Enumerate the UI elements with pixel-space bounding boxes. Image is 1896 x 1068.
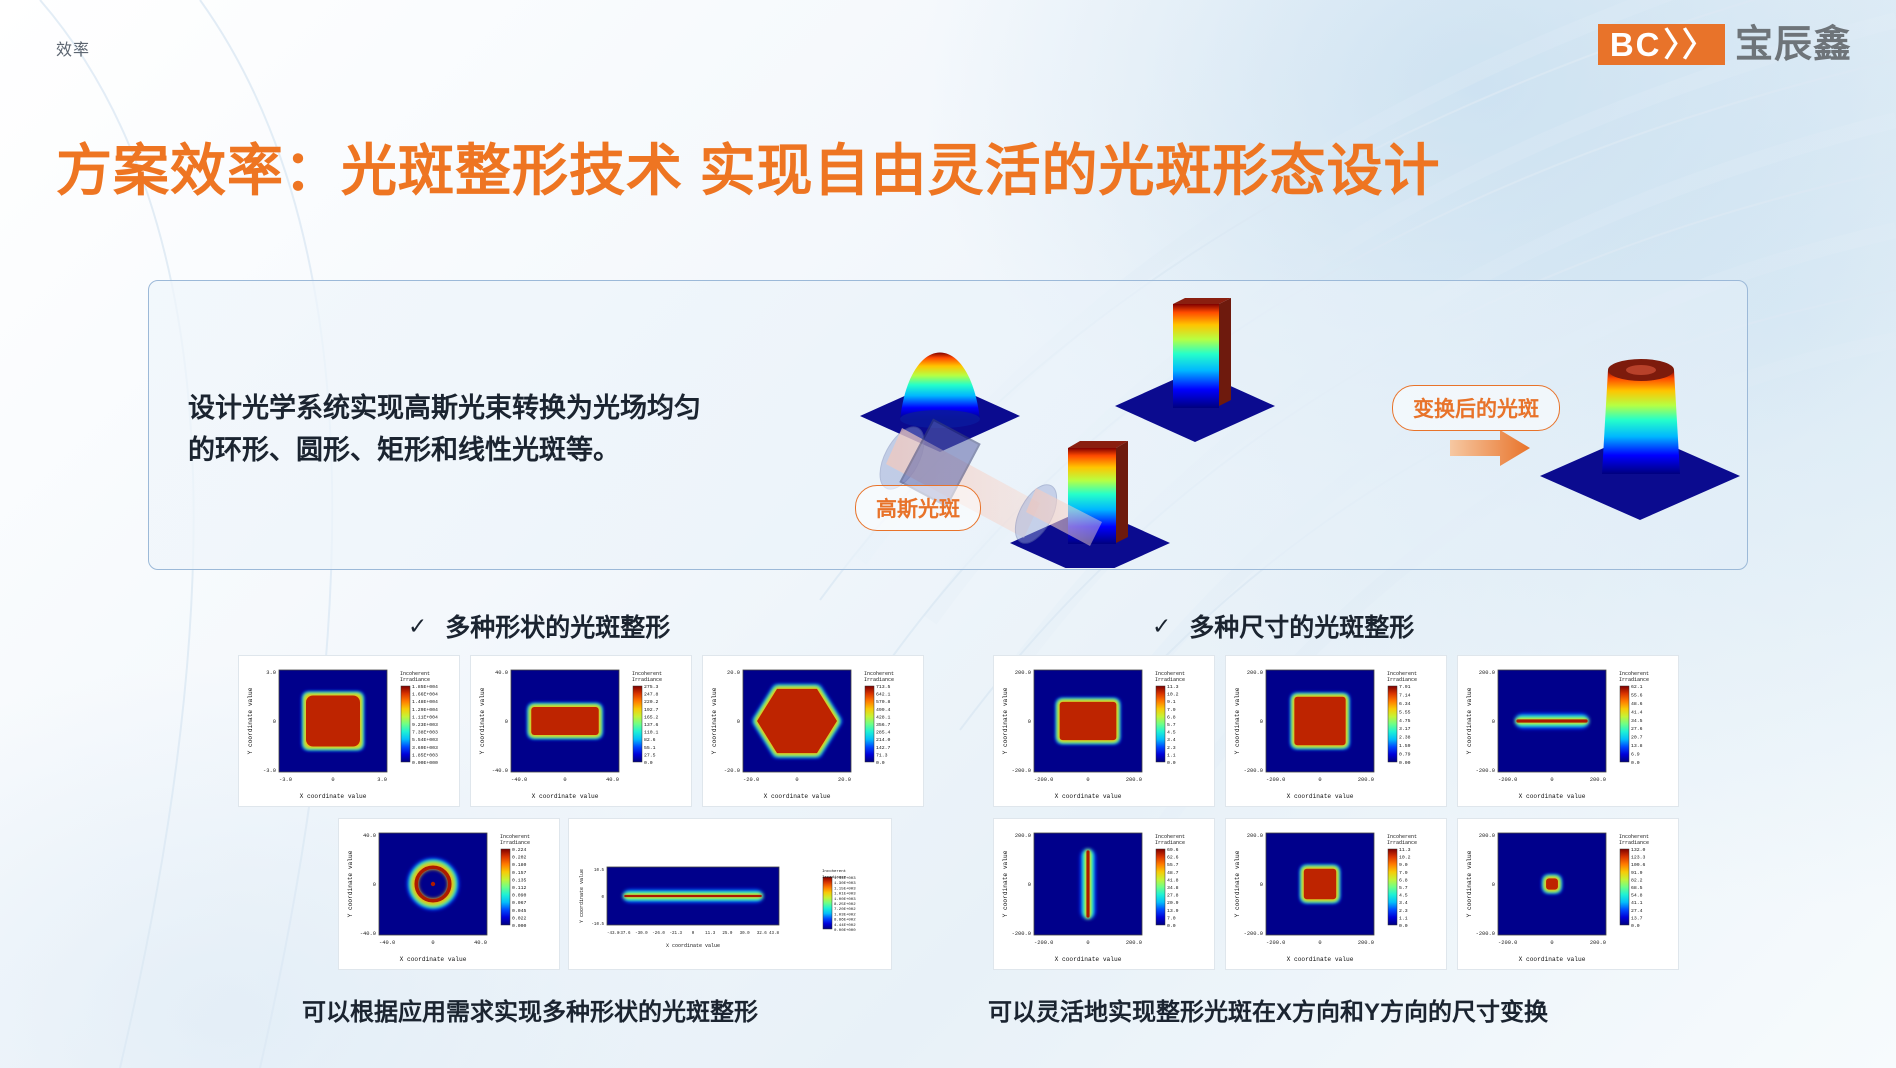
svg-text:Y coordinate value: Y coordinate value <box>1234 850 1241 917</box>
page-title: 方案效率：光斑整形技术 实现自由灵活的光斑形态设计 <box>56 126 1441 207</box>
svg-text:6.9: 6.9 <box>1631 752 1640 758</box>
svg-text:0: 0 <box>1028 719 1031 725</box>
svg-text:Incoherent: Incoherent <box>822 869 846 874</box>
svg-text:-200.0: -200.0 <box>1498 940 1517 946</box>
svg-text:3.4: 3.4 <box>1167 737 1176 743</box>
svg-text:3.69E+003: 3.69E+003 <box>412 745 438 751</box>
beam-shaping-illustration <box>840 288 1750 568</box>
pill-gaussian-spot: 高斯光斑 <box>855 485 981 531</box>
svg-text:0: 0 <box>1492 719 1495 725</box>
svg-text:0.0: 0.0 <box>876 760 885 766</box>
hero-line-2: 的环形、圆形、矩形和线性光斑等。 <box>188 430 828 472</box>
svg-text:4.75: 4.75 <box>1399 718 1411 724</box>
svg-text:123.3: 123.3 <box>1631 855 1646 861</box>
svg-text:0.224: 0.224 <box>512 847 527 853</box>
svg-text:27.8: 27.8 <box>1167 893 1179 899</box>
svg-text:5.7: 5.7 <box>1399 885 1408 891</box>
svg-text:68.5: 68.5 <box>1631 885 1643 891</box>
svg-text:0: 0 <box>273 719 276 725</box>
svg-text:3.0: 3.0 <box>377 777 387 783</box>
svg-text:-200.0: -200.0 <box>1476 931 1495 937</box>
svg-text:Y coordinate value: Y coordinate value <box>711 687 718 754</box>
svg-text:55.6: 55.6 <box>1631 692 1643 698</box>
svg-text:Irradiance: Irradiance <box>864 677 894 683</box>
flattop-surface-plot-top <box>1115 298 1275 442</box>
svg-text:48.6: 48.6 <box>1631 701 1643 707</box>
svg-text:1.85E+004: 1.85E+004 <box>412 684 438 690</box>
svg-text:-3.0: -3.0 <box>263 768 276 774</box>
svg-text:4.44E+002: 4.44E+002 <box>834 924 856 928</box>
svg-text:-3.0: -3.0 <box>279 777 292 783</box>
svg-text:-30.0: -30.0 <box>635 932 648 936</box>
svg-text:2.3: 2.3 <box>1167 745 1176 751</box>
svg-text:0.0: 0.0 <box>1167 923 1176 929</box>
svg-text:7.20E+002: 7.20E+002 <box>834 908 856 912</box>
svg-text:7.91: 7.91 <box>1399 684 1411 690</box>
pill-transformed-spot: 变换后的光斑 <box>1392 385 1560 431</box>
svg-text:-40.0: -40.0 <box>379 940 395 946</box>
svg-text:-40.0: -40.0 <box>511 777 527 783</box>
svg-text:0: 0 <box>431 940 434 946</box>
svg-text:Irradiance: Irradiance <box>1619 677 1649 683</box>
svg-text:0.090: 0.090 <box>512 893 527 899</box>
svg-text:214.0: 214.0 <box>876 737 891 743</box>
svg-text:1.03E+002: 1.03E+002 <box>834 913 856 917</box>
svg-text:5.7: 5.7 <box>1167 722 1176 728</box>
svg-text:40.0: 40.0 <box>363 833 376 839</box>
svg-text:1.30E+003: 1.30E+003 <box>834 882 856 886</box>
svg-text:3.17: 3.17 <box>1399 726 1411 732</box>
hero-description: 设计光学系统实现高斯光束转换为光场均匀 的环形、圆形、矩形和线性光斑等。 <box>188 388 828 472</box>
svg-text:7.38E+003: 7.38E+003 <box>412 730 438 736</box>
svg-text:X coordinate value: X coordinate value <box>1287 793 1354 800</box>
svg-text:275.3: 275.3 <box>644 684 659 690</box>
svg-text:0.0: 0.0 <box>1631 923 1640 929</box>
svg-text:41.4: 41.4 <box>1631 709 1643 715</box>
svg-text:32.6: 32.6 <box>757 932 768 936</box>
hero-line-1: 设计光学系统实现高斯光束转换为光场均匀 <box>188 388 828 430</box>
svg-text:1.29E+004: 1.29E+004 <box>412 707 438 713</box>
svg-text:Y coordinate value: Y coordinate value <box>1466 850 1473 917</box>
brand-logo: BC 〉〉 宝辰鑫 <box>1598 24 1852 65</box>
svg-text:0: 0 <box>1260 882 1263 888</box>
svg-text:-200.0: -200.0 <box>1244 931 1263 937</box>
svg-text:Y coordinate value: Y coordinate value <box>347 850 354 917</box>
svg-text:9.0: 9.0 <box>1399 862 1408 868</box>
svg-text:Irradiance: Irradiance <box>1155 840 1185 846</box>
svg-text:0: 0 <box>331 777 334 783</box>
svg-text:0.135: 0.135 <box>512 877 527 883</box>
svg-text:40.0: 40.0 <box>474 940 487 946</box>
svg-text:Irradiance: Irradiance <box>1387 677 1417 683</box>
svg-text:200.0: 200.0 <box>1247 670 1263 676</box>
svg-text:9.1: 9.1 <box>1167 699 1176 705</box>
svg-text:0: 0 <box>1260 719 1263 725</box>
svg-text:0.022: 0.022 <box>512 915 527 921</box>
svg-text:62.6: 62.6 <box>1167 855 1179 861</box>
svg-text:Y coordinate value: Y coordinate value <box>479 687 486 754</box>
svg-text:-40.0: -40.0 <box>492 768 508 774</box>
svg-text:247.8: 247.8 <box>644 692 659 698</box>
svg-text:0: 0 <box>373 882 376 888</box>
svg-text:69.6: 69.6 <box>1167 847 1179 853</box>
svg-text:0.157: 0.157 <box>512 870 527 876</box>
svg-text:Irradiance: Irradiance <box>500 840 530 846</box>
svg-text:X coordinate value: X coordinate value <box>400 956 467 963</box>
svg-text:1.1: 1.1 <box>1167 752 1176 758</box>
svg-text:0: 0 <box>1550 940 1553 946</box>
svg-text:30.0: 30.0 <box>740 932 751 936</box>
svg-text:8.86E+002: 8.86E+002 <box>834 919 856 923</box>
output-surface-plot <box>1540 359 1740 520</box>
svg-text:0.0: 0.0 <box>644 760 653 766</box>
svg-text:41.1: 41.1 <box>1631 900 1643 906</box>
svg-text:13.8: 13.8 <box>1631 743 1643 749</box>
svg-text:0.00: 0.00 <box>1399 760 1411 766</box>
svg-text:0.0: 0.0 <box>1167 760 1176 766</box>
svg-text:-200.0: -200.0 <box>1498 777 1517 783</box>
svg-text:25.0: 25.0 <box>722 932 733 936</box>
svg-text:6.8: 6.8 <box>1399 877 1408 883</box>
check-icon: ✓ <box>1152 613 1171 640</box>
svg-text:55.7: 55.7 <box>1167 862 1179 868</box>
svg-text:54.8: 54.8 <box>1631 893 1643 899</box>
svg-text:13.7: 13.7 <box>1631 915 1643 921</box>
svg-text:200.0: 200.0 <box>1358 940 1374 946</box>
svg-text:2.3: 2.3 <box>1399 908 1408 914</box>
svg-text:428.1: 428.1 <box>876 714 891 720</box>
section-header-sizes: ✓ 多种尺寸的光斑整形 <box>1152 608 1414 644</box>
svg-text:82.6: 82.6 <box>644 737 656 743</box>
svg-text:7.9: 7.9 <box>1399 870 1408 876</box>
check-icon: ✓ <box>408 613 427 640</box>
caption-sizes: 可以灵活地实现整形光斑在X方向和Y方向的尺寸变换 <box>988 992 1548 1027</box>
svg-text:Y coordinate value: Y coordinate value <box>579 869 585 923</box>
svg-text:110.1: 110.1 <box>644 730 659 736</box>
svg-text:200.0: 200.0 <box>1015 670 1031 676</box>
svg-text:34.5: 34.5 <box>1631 718 1643 724</box>
svg-text:-200.0: -200.0 <box>1476 768 1495 774</box>
svg-text:43.8: 43.8 <box>769 932 780 936</box>
svg-text:1.59: 1.59 <box>1399 743 1411 749</box>
svg-text:62.1: 62.1 <box>1631 684 1643 690</box>
svg-text:6.8: 6.8 <box>1167 714 1176 720</box>
svg-text:-200.0: -200.0 <box>1012 931 1031 937</box>
svg-text:20.0: 20.0 <box>727 670 740 676</box>
svg-text:-26.0: -26.0 <box>652 932 665 936</box>
svg-text:1.48E+004: 1.48E+004 <box>412 699 438 705</box>
svg-text:40.0: 40.0 <box>495 670 508 676</box>
svg-text:200.0: 200.0 <box>1590 940 1606 946</box>
svg-text:X coordinate value: X coordinate value <box>300 793 367 800</box>
svg-text:Irradiance: Irradiance <box>632 677 662 683</box>
svg-text:165.2: 165.2 <box>644 714 659 720</box>
svg-text:0.0: 0.0 <box>1399 923 1408 929</box>
svg-text:132.0: 132.0 <box>1631 847 1646 853</box>
svg-text:-200.0: -200.0 <box>1244 768 1263 774</box>
svg-text:200.0: 200.0 <box>1015 833 1031 839</box>
svg-text:0.000: 0.000 <box>512 923 527 929</box>
svg-text:3.0: 3.0 <box>266 670 276 676</box>
svg-text:109.6: 109.6 <box>1631 862 1646 868</box>
plot-size-rect-wide: -200.00200.0200.00-200.0X coordinate val… <box>993 655 1215 807</box>
svg-text:200.0: 200.0 <box>1590 777 1606 783</box>
plot-shape-hexagon: -20.0020.020.00-20.0X coordinate valueY … <box>702 655 924 807</box>
svg-text:-200.0: -200.0 <box>1034 777 1053 783</box>
svg-text:0: 0 <box>563 777 566 783</box>
svg-text:0.112: 0.112 <box>512 885 527 891</box>
svg-text:9.23E+003: 9.23E+003 <box>412 722 438 728</box>
svg-text:5.55: 5.55 <box>1399 709 1411 715</box>
svg-text:0.180: 0.180 <box>512 862 527 868</box>
svg-text:4.5: 4.5 <box>1399 893 1408 899</box>
svg-text:200.0: 200.0 <box>1126 940 1142 946</box>
svg-text:0: 0 <box>1028 882 1031 888</box>
svg-text:91.9: 91.9 <box>1631 870 1643 876</box>
svg-text:570.8: 570.8 <box>876 699 891 705</box>
svg-text:0.0: 0.0 <box>1631 760 1640 766</box>
svg-text:8.25E+002: 8.25E+002 <box>834 903 856 907</box>
svg-text:20.7: 20.7 <box>1631 735 1643 741</box>
plot-shape-ring: -40.0040.040.00-40.0X coordinate valueY … <box>338 818 560 970</box>
svg-text:34.8: 34.8 <box>1167 885 1179 891</box>
svg-text:Y coordinate value: Y coordinate value <box>1466 687 1473 754</box>
svg-text:1.00E+003: 1.00E+003 <box>834 898 856 902</box>
svg-text:11.3: 11.3 <box>1167 684 1179 690</box>
svg-text:1.44E+003: 1.44E+003 <box>834 877 856 881</box>
plot-size-square-small: -200.00200.0200.00-200.0X coordinate val… <box>1457 818 1679 970</box>
svg-text:200.0: 200.0 <box>1479 670 1495 676</box>
svg-text:285.4: 285.4 <box>876 730 891 736</box>
svg-text:20.0: 20.0 <box>838 777 851 783</box>
section-header-shapes: ✓ 多种形状的光斑整形 <box>408 608 670 644</box>
svg-text:642.1: 642.1 <box>876 692 891 698</box>
svg-text:Irradiance: Irradiance <box>1155 677 1185 683</box>
svg-text:Y coordinate value: Y coordinate value <box>1234 687 1241 754</box>
svg-text:X coordinate value: X coordinate value <box>666 943 720 949</box>
svg-text:X coordinate value: X coordinate value <box>1519 793 1586 800</box>
svg-text:-200.0: -200.0 <box>1034 940 1053 946</box>
svg-text:1.11E+004: 1.11E+004 <box>412 714 438 720</box>
svg-text:11.3: 11.3 <box>1399 847 1411 853</box>
plot-size-vline: -200.00200.0200.00-200.0X coordinate val… <box>993 818 1215 970</box>
svg-text:7.9: 7.9 <box>1167 707 1176 713</box>
svg-text:Irradiance: Irradiance <box>400 677 430 683</box>
svg-text:-200.0: -200.0 <box>1266 777 1285 783</box>
svg-text:2.38: 2.38 <box>1399 735 1411 741</box>
svg-text:0: 0 <box>795 777 798 783</box>
transform-arrow-icon <box>1450 430 1530 466</box>
svg-text:27.4: 27.4 <box>1631 908 1643 914</box>
plot-shape-rectangle: -40.0040.040.00-40.0X coordinate valueY … <box>470 655 692 807</box>
svg-text:7.14: 7.14 <box>1399 692 1411 698</box>
svg-text:-10.5: -10.5 <box>591 923 604 927</box>
svg-text:X coordinate value: X coordinate value <box>1519 956 1586 963</box>
svg-text:71.3: 71.3 <box>876 752 888 758</box>
svg-text:10.2: 10.2 <box>1399 855 1411 861</box>
section-label-shapes: 多种形状的光斑整形 <box>445 608 670 644</box>
svg-text:356.7: 356.7 <box>876 722 891 728</box>
svg-text:200.0: 200.0 <box>1126 777 1142 783</box>
svg-text:1.15E+003: 1.15E+003 <box>834 887 856 891</box>
svg-text:200.0: 200.0 <box>1247 833 1263 839</box>
plot-shape-line: -43.8-37.6-30.0-26.0-21.3011.325.030.032… <box>568 818 892 970</box>
svg-text:27.5: 27.5 <box>644 752 656 758</box>
svg-text:499.4: 499.4 <box>876 707 891 713</box>
svg-text:220.2: 220.2 <box>644 699 659 705</box>
svg-text:0: 0 <box>1492 882 1495 888</box>
svg-text:192.7: 192.7 <box>644 707 659 713</box>
logo-chevron-icon: 〉〉 <box>1663 28 1717 61</box>
svg-text:0: 0 <box>1086 940 1089 946</box>
svg-text:X coordinate value: X coordinate value <box>1287 956 1354 963</box>
svg-text:48.7: 48.7 <box>1167 870 1179 876</box>
svg-text:Y coordinate value: Y coordinate value <box>247 687 254 754</box>
svg-text:142.7: 142.7 <box>876 745 891 751</box>
svg-text:-200.0: -200.0 <box>1012 768 1031 774</box>
svg-text:137.6: 137.6 <box>644 722 659 728</box>
svg-text:Irradiance: Irradiance <box>1387 840 1417 846</box>
svg-text:11.3: 11.3 <box>705 932 716 936</box>
svg-text:3.4: 3.4 <box>1399 900 1408 906</box>
svg-text:0: 0 <box>737 719 740 725</box>
svg-text:1.1: 1.1 <box>1399 915 1408 921</box>
svg-text:Irradiance: Irradiance <box>1619 840 1649 846</box>
svg-text:Y coordinate value: Y coordinate value <box>1002 687 1009 754</box>
svg-text:20.9: 20.9 <box>1167 900 1179 906</box>
svg-text:X coordinate value: X coordinate value <box>532 793 599 800</box>
svg-text:6.34: 6.34 <box>1399 701 1411 707</box>
caption-shapes: 可以根据应用需求实现多种形状的光斑整形 <box>302 992 758 1027</box>
svg-text:-21.3: -21.3 <box>670 932 683 936</box>
svg-text:55.1: 55.1 <box>644 745 656 751</box>
svg-text:Y coordinate value: Y coordinate value <box>1002 850 1009 917</box>
svg-text:10.5: 10.5 <box>594 869 605 873</box>
svg-text:0: 0 <box>1318 940 1321 946</box>
svg-text:0.00E+000: 0.00E+000 <box>834 929 856 933</box>
svg-text:X coordinate value: X coordinate value <box>1055 793 1122 800</box>
svg-text:1.01E+003: 1.01E+003 <box>834 893 856 897</box>
svg-text:41.8: 41.8 <box>1167 877 1179 883</box>
svg-text:0.045: 0.045 <box>512 908 527 914</box>
svg-text:10.2: 10.2 <box>1167 692 1179 698</box>
svg-text:0.79: 0.79 <box>1399 752 1411 758</box>
plot-size-square-big: -200.00200.0200.00-200.0X coordinate val… <box>1225 655 1447 807</box>
svg-text:-40.0: -40.0 <box>360 931 376 937</box>
section-label-sizes: 多种尺寸的光斑整形 <box>1189 608 1414 644</box>
svg-text:0.00E+000: 0.00E+000 <box>412 760 438 766</box>
svg-text:1.85E+003: 1.85E+003 <box>412 752 438 758</box>
svg-text:1.66E+004: 1.66E+004 <box>412 692 438 698</box>
svg-text:-20.0: -20.0 <box>724 768 740 774</box>
svg-text:200.0: 200.0 <box>1479 833 1495 839</box>
svg-text:0: 0 <box>1318 777 1321 783</box>
svg-text:40.0: 40.0 <box>606 777 619 783</box>
svg-text:-37.6: -37.6 <box>618 932 631 936</box>
svg-text:713.5: 713.5 <box>876 684 891 690</box>
logo-chinese-name: 宝辰鑫 <box>1735 26 1852 64</box>
svg-text:5.54E+003: 5.54E+003 <box>412 737 438 743</box>
logo-badge: BC 〉〉 <box>1598 24 1725 65</box>
eyebrow-label: 效率 <box>56 36 90 60</box>
svg-text:7.0: 7.0 <box>1167 915 1176 921</box>
svg-text:-200.0: -200.0 <box>1266 940 1285 946</box>
plot-shape-square: -3.003.03.00-3.0X coordinate valueY coor… <box>238 655 460 807</box>
svg-text:X coordinate value: X coordinate value <box>764 793 831 800</box>
svg-text:200.0: 200.0 <box>1358 777 1374 783</box>
svg-text:13.9: 13.9 <box>1167 908 1179 914</box>
svg-text:-20.0: -20.0 <box>743 777 759 783</box>
plot-size-square-mid: -200.00200.0200.00-200.0X coordinate val… <box>1225 818 1447 970</box>
svg-text:27.6: 27.6 <box>1631 726 1643 732</box>
svg-text:0: 0 <box>1086 777 1089 783</box>
svg-text:0: 0 <box>505 719 508 725</box>
svg-text:X coordinate value: X coordinate value <box>1055 956 1122 963</box>
svg-text:0.202: 0.202 <box>512 855 527 861</box>
svg-text:0.067: 0.067 <box>512 900 527 906</box>
logo-mark-text: BC <box>1610 28 1662 61</box>
svg-text:0: 0 <box>1550 777 1553 783</box>
plot-size-hline: -200.00200.0200.00-200.0X coordinate val… <box>1457 655 1679 807</box>
svg-text:82.2: 82.2 <box>1631 877 1643 883</box>
svg-text:4.5: 4.5 <box>1167 730 1176 736</box>
